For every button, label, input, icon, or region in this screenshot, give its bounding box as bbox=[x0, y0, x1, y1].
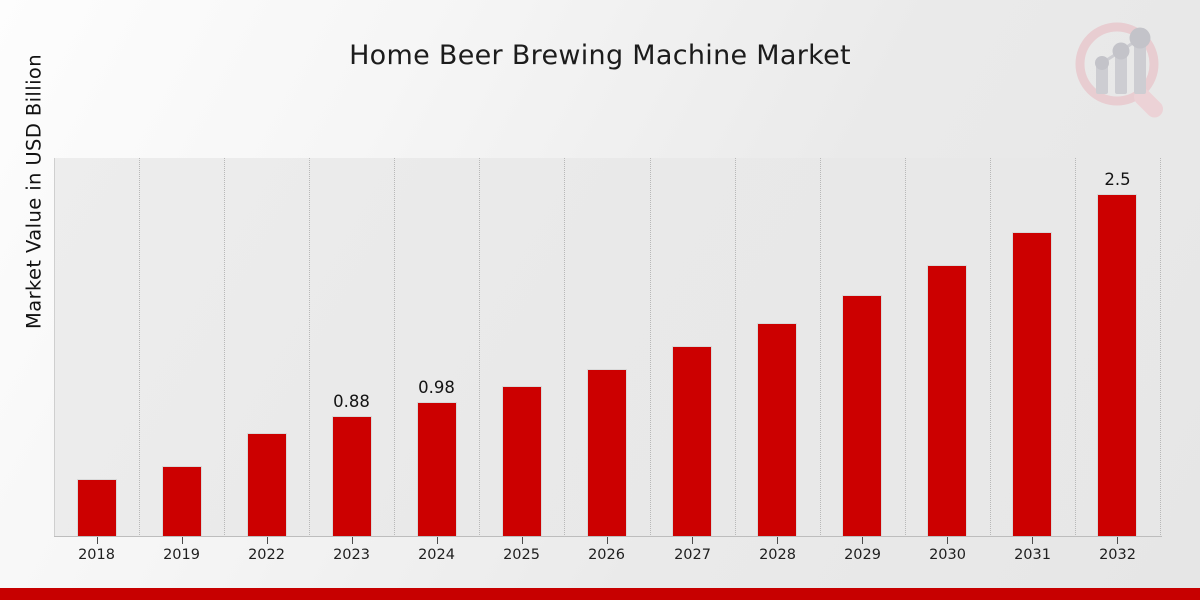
bar-2030[interactable] bbox=[927, 265, 967, 537]
bar-2031[interactable] bbox=[1012, 232, 1052, 537]
x-tick-label-2030: 2030 bbox=[905, 547, 990, 563]
gridline bbox=[224, 158, 225, 537]
gridline bbox=[564, 158, 565, 537]
x-axis-tick bbox=[607, 537, 608, 544]
x-tick-label-2027: 2027 bbox=[650, 547, 735, 563]
chart-page: Home Beer Brewing Machine Market Market … bbox=[0, 0, 1200, 600]
bar-2029[interactable] bbox=[842, 295, 882, 537]
x-tick-label-2019: 2019 bbox=[139, 547, 224, 563]
x-axis-tick bbox=[862, 537, 863, 544]
x-axis-tick bbox=[267, 537, 268, 544]
gridline bbox=[139, 158, 140, 537]
gridline bbox=[820, 158, 821, 537]
x-axis-line bbox=[54, 536, 1162, 537]
x-axis-tick bbox=[182, 537, 183, 544]
gridline bbox=[735, 158, 736, 537]
page-title: Home Beer Brewing Machine Market bbox=[0, 40, 1200, 71]
y-axis-title: Market Value in USD Billion bbox=[23, 0, 46, 392]
bar-2024[interactable] bbox=[417, 402, 457, 537]
gridline bbox=[479, 158, 480, 537]
gridline bbox=[394, 158, 395, 537]
bar-2025[interactable] bbox=[502, 386, 542, 537]
gridline bbox=[905, 158, 906, 537]
gridline bbox=[650, 158, 651, 537]
gridline bbox=[1075, 158, 1076, 537]
bar-2019[interactable] bbox=[162, 466, 202, 537]
x-tick-label-2029: 2029 bbox=[820, 547, 905, 563]
x-tick-label-2023: 2023 bbox=[309, 547, 394, 563]
x-axis-tick bbox=[437, 537, 438, 544]
x-axis-tick bbox=[692, 537, 693, 544]
x-tick-label-2026: 2026 bbox=[564, 547, 649, 563]
gridline bbox=[309, 158, 310, 537]
bar-2027[interactable] bbox=[672, 346, 712, 537]
footer-accent-bar bbox=[0, 588, 1200, 600]
x-tick-label-2018: 2018 bbox=[54, 547, 139, 563]
x-axis-tick bbox=[777, 537, 778, 544]
bar-value-label-2032: 2.5 bbox=[1075, 170, 1160, 189]
plot-area bbox=[54, 158, 1160, 537]
x-tick-label-2028: 2028 bbox=[735, 547, 820, 563]
x-axis-tick bbox=[522, 537, 523, 544]
gridline bbox=[54, 158, 55, 537]
x-axis-tick bbox=[1032, 537, 1033, 544]
bar-2028[interactable] bbox=[757, 323, 797, 537]
bar-2026[interactable] bbox=[587, 369, 627, 537]
x-tick-label-2025: 2025 bbox=[479, 547, 564, 563]
bar-2023[interactable] bbox=[332, 416, 372, 537]
x-axis-tick bbox=[947, 537, 948, 544]
x-axis-tick bbox=[97, 537, 98, 544]
bar-2022[interactable] bbox=[247, 433, 287, 537]
x-tick-label-2022: 2022 bbox=[224, 547, 309, 563]
x-tick-label-2031: 2031 bbox=[990, 547, 1075, 563]
bar-2018[interactable] bbox=[77, 479, 117, 537]
x-tick-label-2024: 2024 bbox=[394, 547, 479, 563]
bar-value-label-2024: 0.98 bbox=[394, 378, 479, 397]
gridline bbox=[990, 158, 991, 537]
bar-value-label-2023: 0.88 bbox=[309, 392, 394, 411]
x-axis-tick bbox=[1117, 537, 1118, 544]
x-tick-label-2032: 2032 bbox=[1075, 547, 1160, 563]
x-axis-tick bbox=[352, 537, 353, 544]
bar-2032[interactable] bbox=[1097, 194, 1137, 537]
gridline bbox=[1160, 158, 1161, 537]
